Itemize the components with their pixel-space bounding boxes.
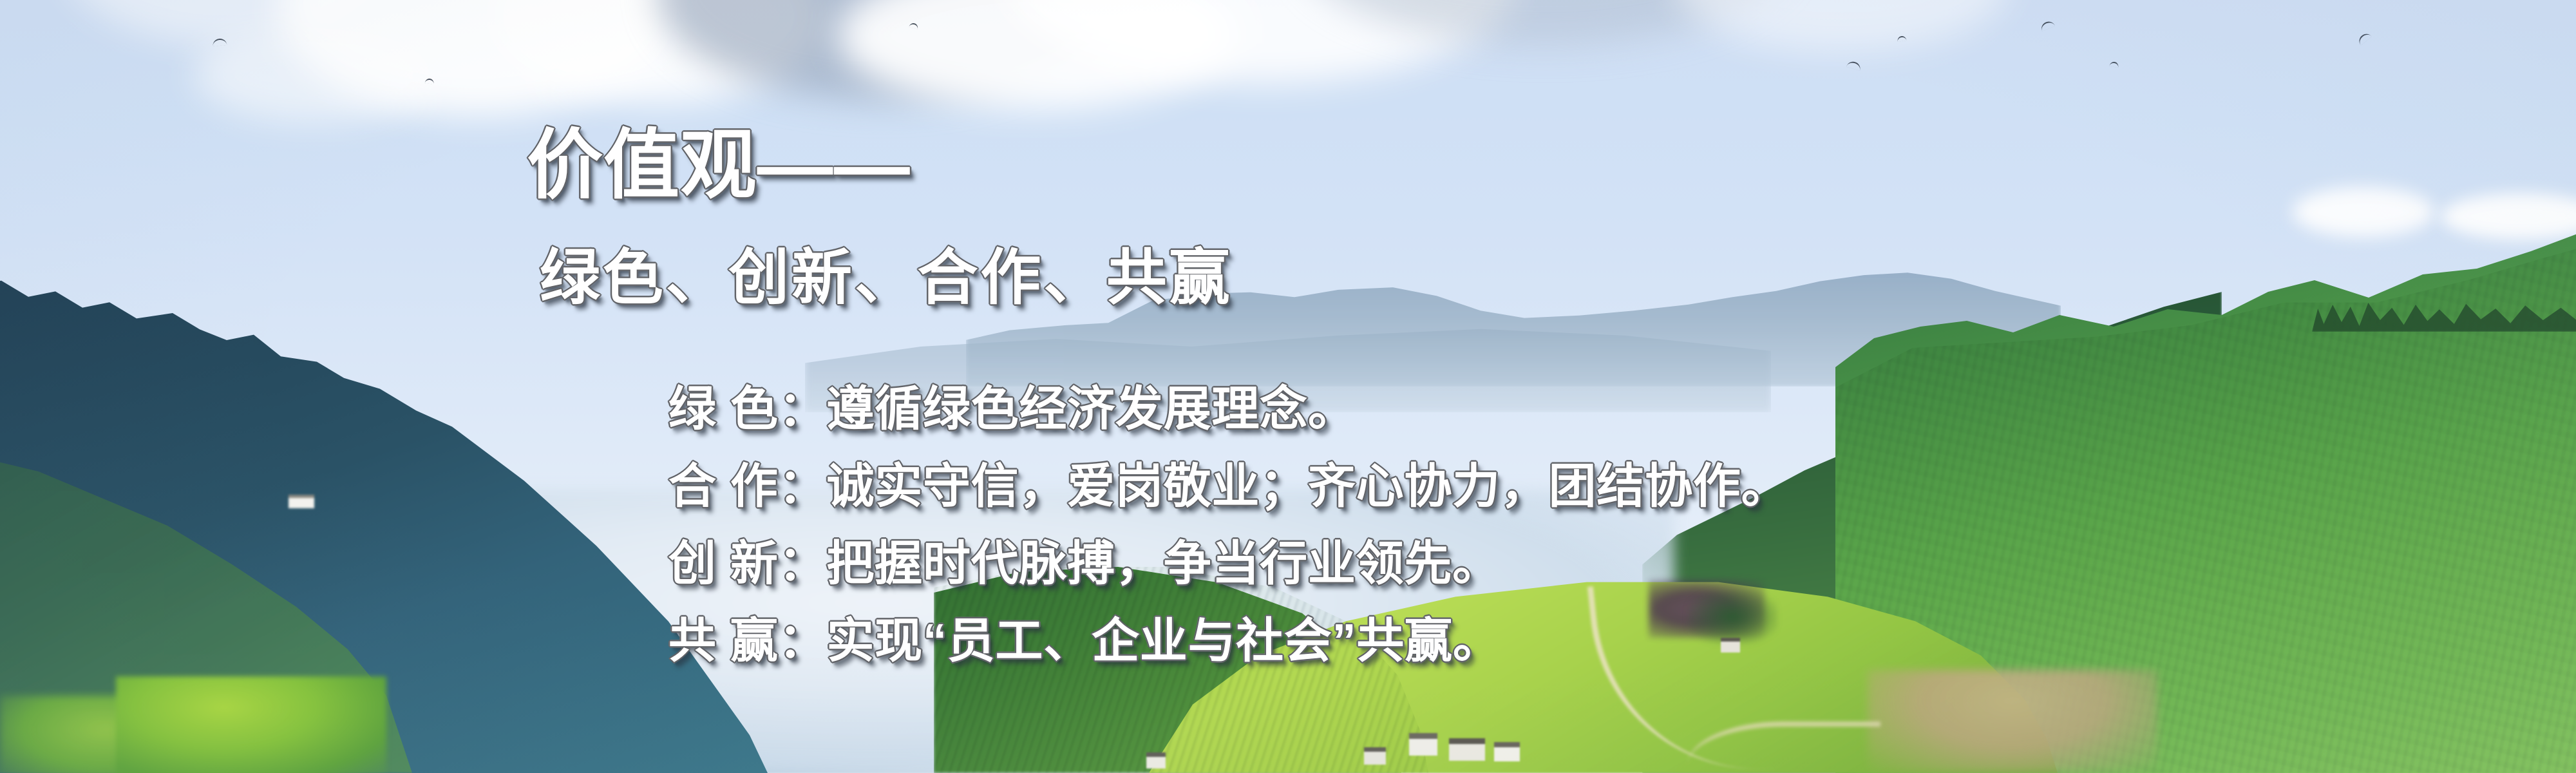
values-banner: 价值观—— 绿色、创新、合作、共赢 绿 色：遵循绿色经济发展理念。 合 作：诚实…: [0, 0, 2576, 773]
value-line-green: 绿 色：遵循绿色经济发展理念。: [668, 385, 1356, 433]
page-title: 价值观——: [527, 128, 911, 204]
value-line-innovation: 创 新：把握时代脉搏，争当行业领先。: [668, 540, 1501, 587]
values-text-block: 价值观—— 绿色、创新、合作、共赢 绿 色：遵循绿色经济发展理念。 合 作：诚实…: [0, 0, 2576, 773]
value-line-cooperation: 合 作：诚实守信，爱岗敬业；齐心协力，团结协作。: [668, 463, 1789, 510]
values-subtitle: 绿色、创新、合作、共赢: [540, 247, 1232, 308]
value-line-winwin: 共 赢：实现“员工、企业与社会”共赢。: [668, 617, 1501, 665]
